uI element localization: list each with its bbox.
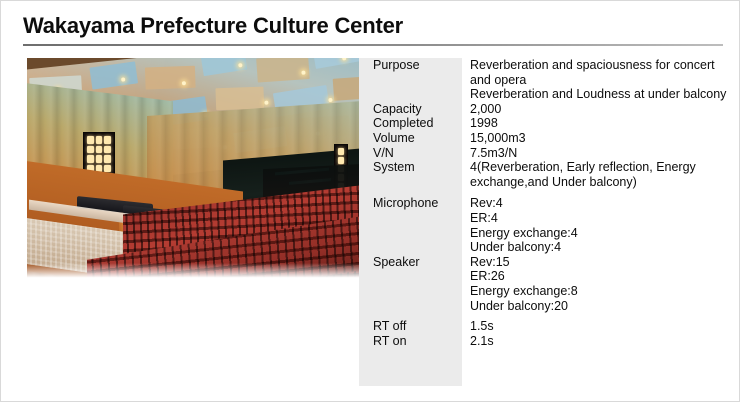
row-value-completed: 1998: [462, 116, 723, 131]
value-line: Reverberation and Loudness at under balc…: [470, 87, 726, 102]
photo-artwork: [27, 58, 359, 279]
table-row: V/N 7.5m3/N: [359, 146, 723, 161]
table-row: Purpose Reverberation and spaciousness f…: [359, 58, 723, 102]
row-value-speaker: Rev:15 ER:26 Energy exchange:8 Under bal…: [462, 255, 723, 313]
row-label-speaker: Speaker: [359, 255, 462, 270]
table-row: RT on 2.1s: [359, 334, 723, 349]
row-label-system: System: [359, 160, 462, 175]
value-line: ER:4: [470, 211, 723, 226]
row-label-capacity: Capacity: [359, 102, 462, 117]
table-row: Completed 1998: [359, 116, 723, 131]
value-line: 2.1s: [470, 334, 723, 349]
row-label-completed: Completed: [359, 116, 462, 131]
spec-table: Purpose Reverberation and spaciousness f…: [359, 58, 723, 386]
value-line: 15,000m3: [470, 131, 723, 146]
value-line: Under balcony:4: [470, 240, 723, 255]
row-label-volume: Volume: [359, 131, 462, 146]
value-line: 7.5m3/N: [470, 146, 723, 161]
row-label-microphone: Microphone: [359, 196, 462, 211]
value-line: Reverberation and spaciousness for conce…: [470, 58, 720, 87]
value-line: Under balcony:20: [470, 299, 723, 314]
row-value-purpose: Reverberation and spaciousness for conce…: [462, 58, 726, 102]
table-row: System 4(Reverberation, Early reflection…: [359, 160, 723, 189]
row-label-purpose: Purpose: [359, 58, 462, 73]
row-label-v-n: V/N: [359, 146, 462, 161]
page-title: Wakayama Prefecture Culture Center: [23, 12, 403, 40]
photo-bottom-fade: [27, 263, 359, 279]
value-line: Energy exchange:4: [470, 226, 723, 241]
row-value-volume: 15,000m3: [462, 131, 723, 146]
value-line: Rev:15: [470, 255, 723, 270]
value-line: 1.5s: [470, 319, 723, 334]
value-line: ER:26: [470, 269, 723, 284]
table-row: Speaker Rev:15 ER:26 Energy exchange:8 U…: [359, 255, 723, 313]
row-value-rt-on: 2.1s: [462, 334, 723, 349]
value-line: 4(Reverberation, Early reflection, Energ…: [470, 160, 720, 189]
table-row: RT off 1.5s: [359, 319, 723, 334]
row-label-rt-off: RT off: [359, 319, 462, 334]
title-divider: [23, 44, 723, 46]
row-value-v-n: 7.5m3/N: [462, 146, 723, 161]
row-value-capacity: 2,000: [462, 102, 723, 117]
value-line: 2,000: [470, 102, 723, 117]
panel-light-grid: [84, 133, 114, 175]
slide-canvas: Wakayama Prefecture Culture Center: [0, 0, 740, 402]
table-row: Volume 15,000m3: [359, 131, 723, 146]
concert-hall-photo: [27, 58, 359, 279]
row-value-microphone: Rev:4 ER:4 Energy exchange:4 Under balco…: [462, 196, 723, 254]
table-row: Microphone Rev:4 ER:4 Energy exchange:4 …: [359, 196, 723, 254]
value-line: Energy exchange:8: [470, 284, 723, 299]
row-value-system: 4(Reverberation, Early reflection, Energ…: [462, 160, 723, 189]
spec-rows: Purpose Reverberation and spaciousness f…: [359, 58, 723, 348]
row-value-rt-off: 1.5s: [462, 319, 723, 334]
value-line: Rev:4: [470, 196, 723, 211]
table-row: Capacity 2,000: [359, 102, 723, 117]
row-label-rt-on: RT on: [359, 334, 462, 349]
value-line: 1998: [470, 116, 723, 131]
